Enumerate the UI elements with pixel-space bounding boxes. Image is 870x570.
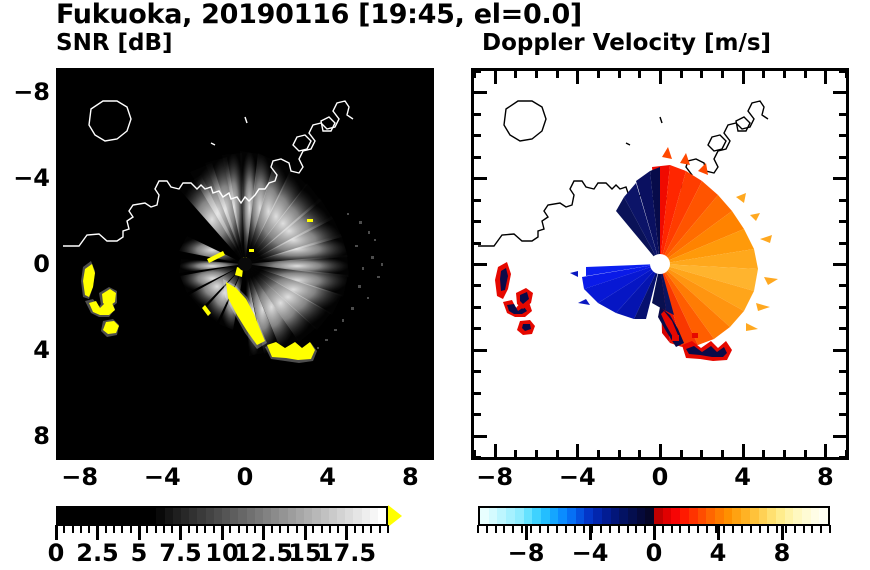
colorbar-minor-tick xyxy=(477,525,479,533)
colorbar-tick-label: 4 xyxy=(710,539,727,567)
colorbar-minor-tick xyxy=(671,525,673,533)
colorbar-major-tick xyxy=(589,525,592,540)
colorbar-major-tick xyxy=(653,525,656,540)
doppler-colorbar-ticks xyxy=(0,0,870,570)
colorbar-minor-tick xyxy=(776,525,778,533)
colorbar-minor-tick xyxy=(829,525,831,533)
colorbar-minor-tick xyxy=(750,525,752,533)
colorbar-minor-tick xyxy=(697,525,699,533)
colorbar-tick-label: −4 xyxy=(572,539,609,567)
colorbar-minor-tick xyxy=(600,525,602,533)
colorbar-major-tick xyxy=(525,525,528,540)
colorbar-minor-tick xyxy=(820,525,822,533)
radar-figure: Fukuoka, 20190116 [19:45, el=0.0] SNR [d… xyxy=(0,0,870,570)
colorbar-tick-label: −8 xyxy=(508,539,545,567)
colorbar-minor-tick xyxy=(618,525,620,533)
colorbar-minor-tick xyxy=(811,525,813,533)
colorbar-minor-tick xyxy=(591,525,593,533)
colorbar-minor-tick xyxy=(609,525,611,533)
colorbar-minor-tick xyxy=(759,525,761,533)
colorbar-minor-tick xyxy=(723,525,725,533)
colorbar-minor-tick xyxy=(767,525,769,533)
colorbar-major-tick xyxy=(781,525,784,540)
colorbar-tick-label: 0 xyxy=(646,539,663,567)
colorbar-minor-tick xyxy=(741,525,743,533)
colorbar-minor-tick xyxy=(521,525,523,533)
colorbar-tick-label: 8 xyxy=(774,539,791,567)
colorbar-minor-tick xyxy=(556,525,558,533)
colorbar-minor-tick xyxy=(785,525,787,533)
colorbar-minor-tick xyxy=(732,525,734,533)
colorbar-minor-tick xyxy=(627,525,629,533)
colorbar-minor-tick xyxy=(679,525,681,533)
colorbar-minor-tick xyxy=(688,525,690,533)
colorbar-minor-tick xyxy=(583,525,585,533)
colorbar-minor-tick xyxy=(503,525,505,533)
colorbar-minor-tick xyxy=(574,525,576,533)
colorbar-minor-tick xyxy=(539,525,541,533)
colorbar-minor-tick xyxy=(706,525,708,533)
colorbar-minor-tick xyxy=(495,525,497,533)
colorbar-minor-tick xyxy=(486,525,488,533)
colorbar-minor-tick xyxy=(803,525,805,533)
colorbar-major-tick xyxy=(717,525,720,540)
colorbar-minor-tick xyxy=(794,525,796,533)
colorbar-minor-tick xyxy=(644,525,646,533)
colorbar-minor-tick xyxy=(662,525,664,533)
colorbar-minor-tick xyxy=(547,525,549,533)
colorbar-minor-tick xyxy=(512,525,514,533)
colorbar-minor-tick xyxy=(565,525,567,533)
colorbar-minor-tick xyxy=(530,525,532,533)
colorbar-minor-tick xyxy=(635,525,637,533)
